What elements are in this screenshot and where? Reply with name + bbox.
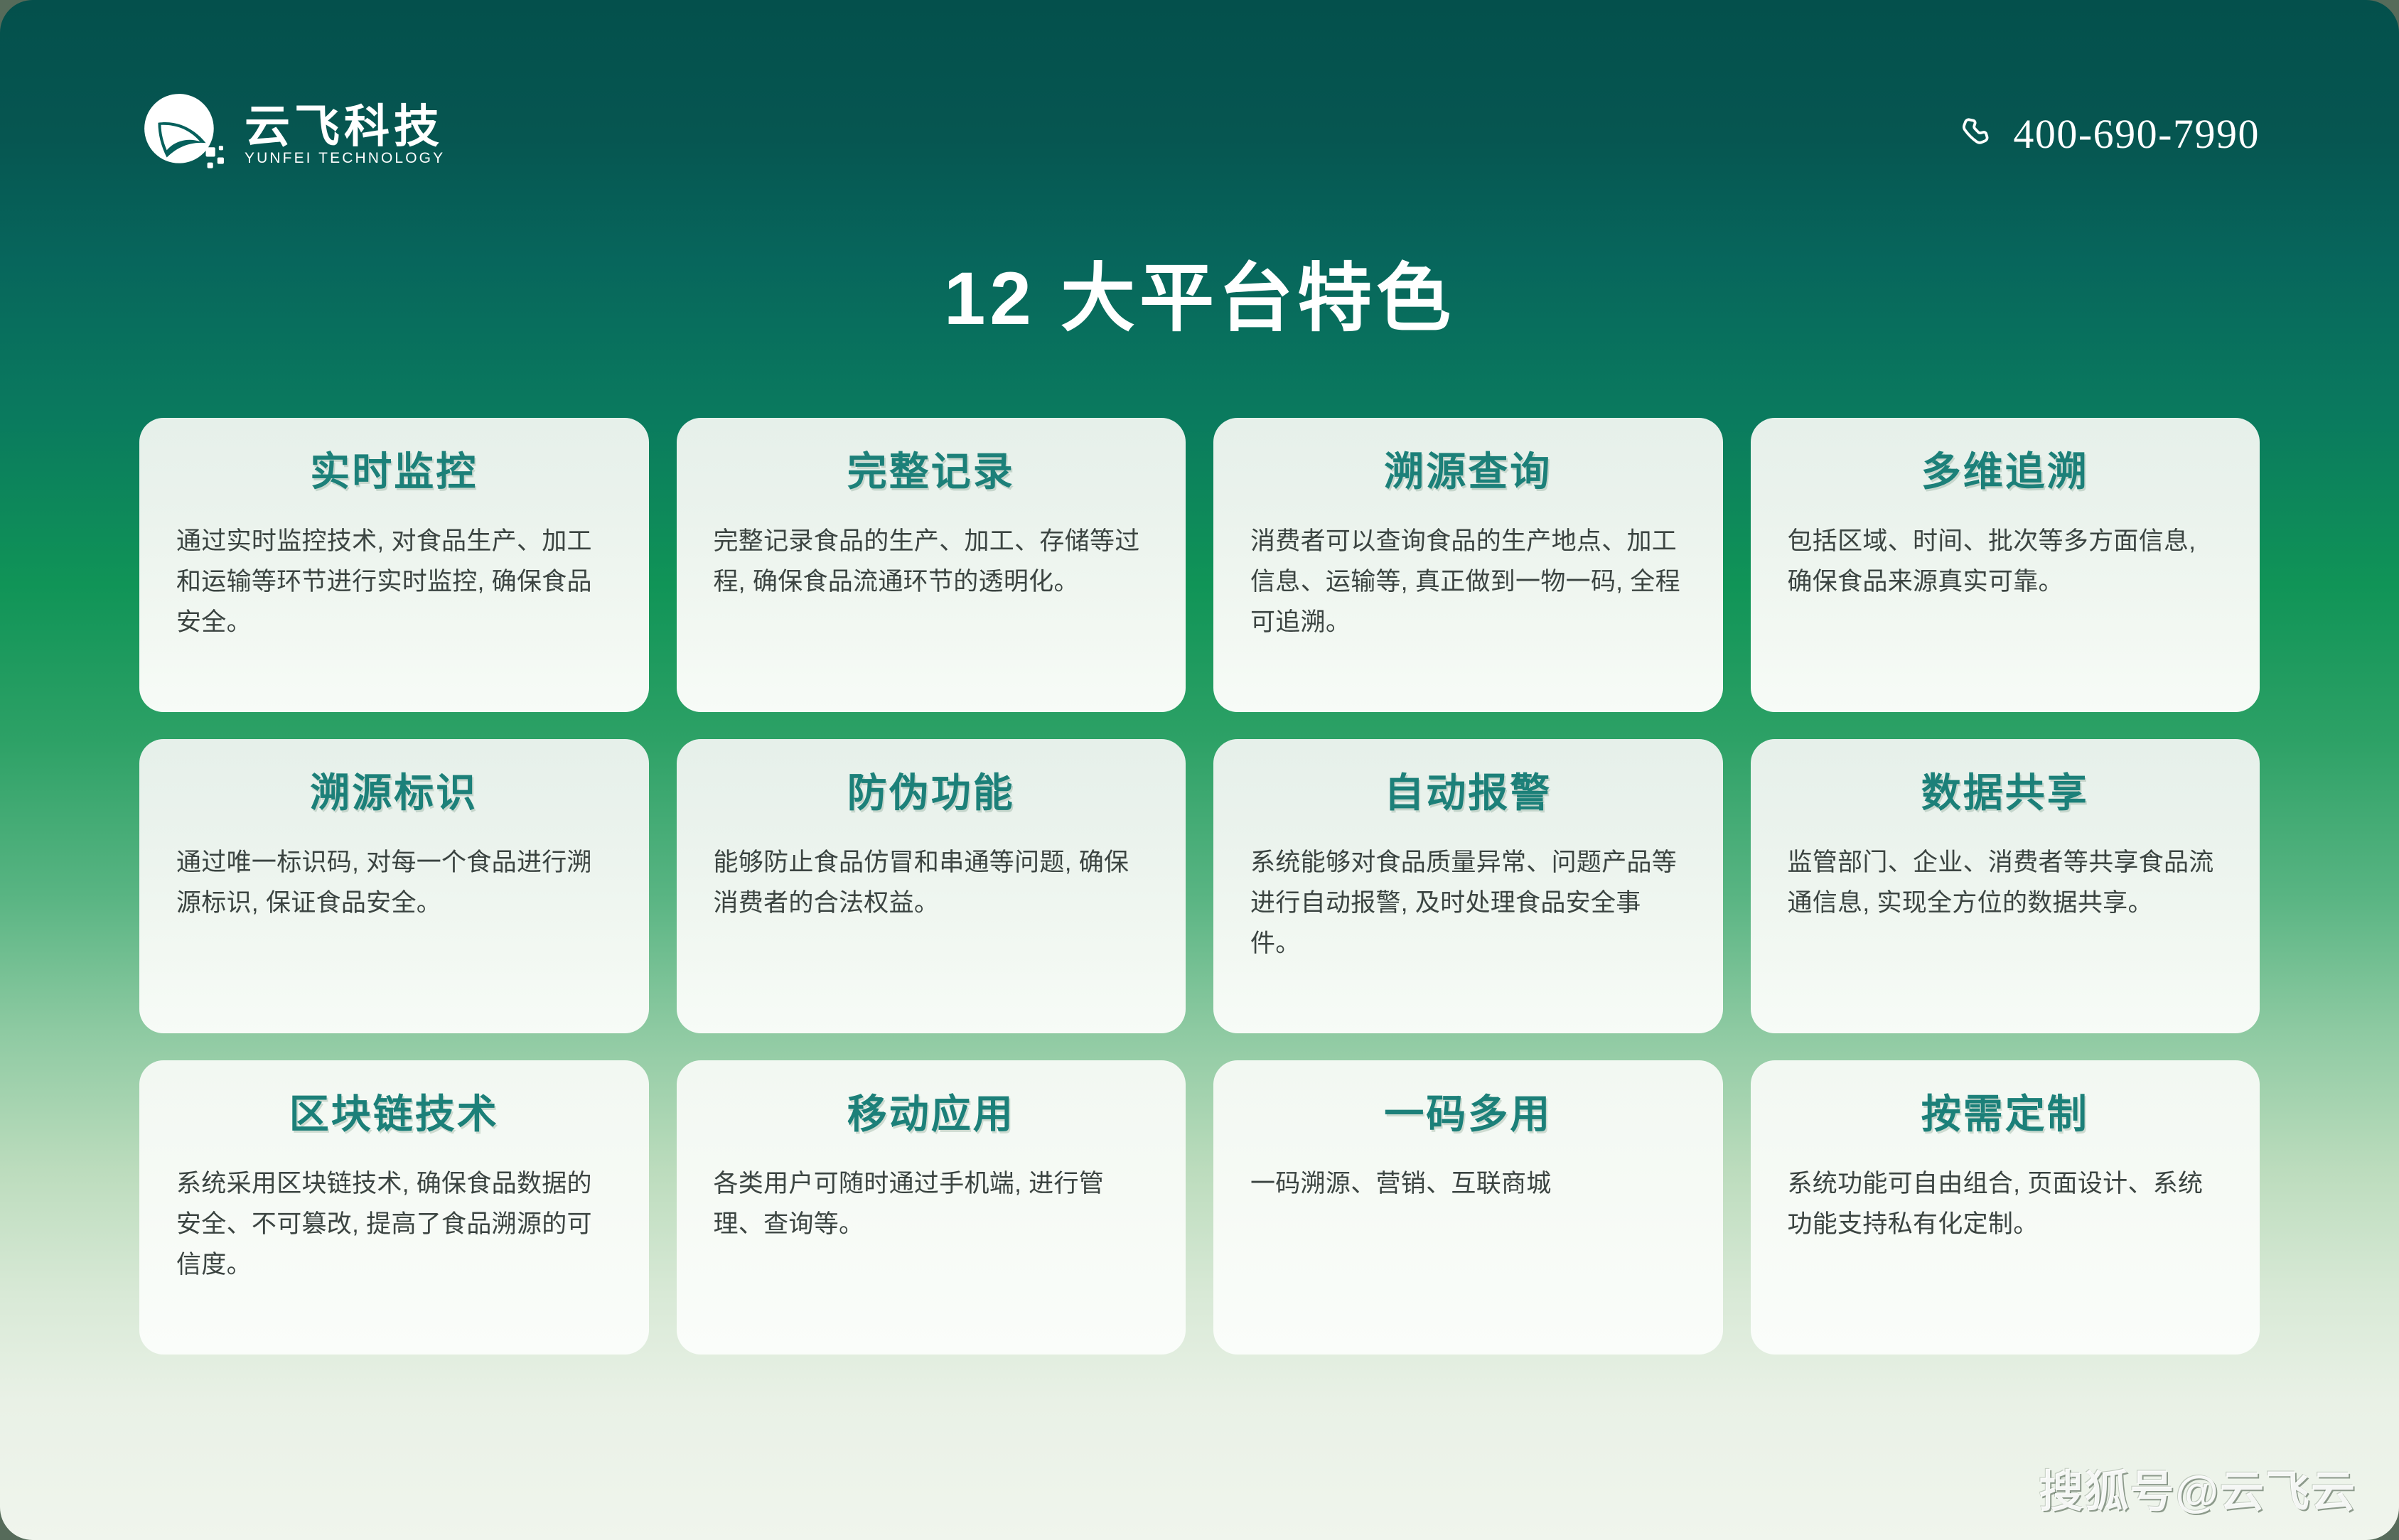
feature-card[interactable]: 溯源查询 消费者可以查询食品的生产地点、加工信息、运输等, 真正做到一物一码, … xyxy=(1213,418,1723,712)
feature-card[interactable]: 区块链技术 系统采用区块链技术, 确保食品数据的安全、不可篡改, 提高了食品溯源… xyxy=(139,1060,649,1355)
brand-name-cn: 云飞科技 xyxy=(245,104,445,149)
feature-card-title: 区块链技术 xyxy=(176,1092,612,1137)
feature-card[interactable]: 一码多用 一码溯源、营销、互联商城 xyxy=(1213,1060,1723,1355)
feature-card[interactable]: 按需定制 系统功能可自由组合, 页面设计、系统功能支持私有化定制。 xyxy=(1751,1060,2260,1355)
feature-card-body: 完整记录食品的生产、加工、存储等过程, 确保食品流通环节的透明化。 xyxy=(714,522,1149,602)
feature-card-title: 实时监控 xyxy=(176,449,612,495)
feature-card-body: 系统功能可自由组合, 页面设计、系统功能支持私有化定制。 xyxy=(1788,1164,2223,1244)
feature-card-title: 一码多用 xyxy=(1250,1092,1686,1137)
feature-card-body: 消费者可以查询食品的生产地点、加工信息、运输等, 真正做到一物一码, 全程可追溯… xyxy=(1250,522,1686,642)
feature-card-title: 溯源标识 xyxy=(176,770,612,816)
feature-card-grid: 实时监控 通过实时监控技术, 对食品生产、加工和运输等环节进行实时监控, 确保食… xyxy=(139,418,2260,1355)
feature-card-title: 移动应用 xyxy=(714,1092,1149,1137)
feature-card[interactable]: 实时监控 通过实时监控技术, 对食品生产、加工和运输等环节进行实时监控, 确保食… xyxy=(139,418,649,712)
feature-card[interactable]: 移动应用 各类用户可随时通过手机端, 进行管理、查询等。 xyxy=(677,1060,1186,1355)
feature-card[interactable]: 多维追溯 包括区域、时间、批次等多方面信息, 确保食品来源真实可靠。 xyxy=(1751,418,2260,712)
phone-icon xyxy=(1959,115,1997,154)
poster-canvas: 云飞科技 YUNFEI TECHNOLOGY 400-690-7990 12 大… xyxy=(0,0,2399,1540)
feature-card-title: 按需定制 xyxy=(1788,1092,2223,1137)
feature-card-title: 自动报警 xyxy=(1250,770,1686,816)
brand-text: 云飞科技 YUNFEI TECHNOLOGY xyxy=(245,104,445,166)
feature-card-body: 能够防止食品仿冒和串通等问题, 确保消费者的合法权益。 xyxy=(714,843,1149,923)
feature-card-title: 多维追溯 xyxy=(1788,449,2223,495)
feature-card-title: 完整记录 xyxy=(714,449,1149,495)
feature-card-title: 防伪功能 xyxy=(714,770,1149,816)
feature-card[interactable]: 溯源标识 通过唯一标识码, 对每一个食品进行溯源标识, 保证食品安全。 xyxy=(139,739,649,1033)
feature-card-title: 溯源查询 xyxy=(1250,449,1686,495)
feature-card[interactable]: 完整记录 完整记录食品的生产、加工、存储等过程, 确保食品流通环节的透明化。 xyxy=(677,418,1186,712)
feature-card[interactable]: 自动报警 系统能够对食品质量异常、问题产品等进行自动报警, 及时处理食品安全事件… xyxy=(1213,739,1723,1033)
feature-card-body: 监管部门、企业、消费者等共享食品流通信息, 实现全方位的数据共享。 xyxy=(1788,843,2223,923)
poster-header: 云飞科技 YUNFEI TECHNOLOGY 400-690-7990 xyxy=(0,0,2399,178)
leaf-circle-logo-icon xyxy=(139,91,226,178)
watermark: 搜狐号@云飞云 xyxy=(2039,1470,2356,1514)
feature-card[interactable]: 防伪功能 能够防止食品仿冒和串通等问题, 确保消费者的合法权益。 xyxy=(677,739,1186,1033)
feature-card-body: 通过实时监控技术, 对食品生产、加工和运输等环节进行实时监控, 确保食品安全。 xyxy=(176,522,612,642)
feature-card-body: 各类用户可随时通过手机端, 进行管理、查询等。 xyxy=(714,1164,1149,1244)
feature-card-title: 数据共享 xyxy=(1788,770,2223,816)
feature-card-body: 包括区域、时间、批次等多方面信息, 确保食品来源真实可靠。 xyxy=(1788,522,2223,602)
brand-name-en: YUNFEI TECHNOLOGY xyxy=(245,151,445,166)
feature-card-body: 通过唯一标识码, 对每一个食品进行溯源标识, 保证食品安全。 xyxy=(176,843,612,923)
hotline-number: 400-690-7990 xyxy=(2013,114,2260,155)
feature-card-body: 系统能够对食品质量异常、问题产品等进行自动报警, 及时处理食品安全事件。 xyxy=(1250,843,1686,964)
brand-lockup: 云飞科技 YUNFEI TECHNOLOGY xyxy=(139,91,445,178)
feature-card-body: 系统采用区块链技术, 确保食品数据的安全、不可篡改, 提高了食品溯源的可信度。 xyxy=(176,1164,612,1285)
hotline[interactable]: 400-690-7990 xyxy=(1959,114,2260,155)
feature-card[interactable]: 数据共享 监管部门、企业、消费者等共享食品流通信息, 实现全方位的数据共享。 xyxy=(1751,739,2260,1033)
page-title: 12 大平台特色 xyxy=(0,254,2399,344)
feature-card-body: 一码溯源、营销、互联商城 xyxy=(1250,1164,1686,1205)
